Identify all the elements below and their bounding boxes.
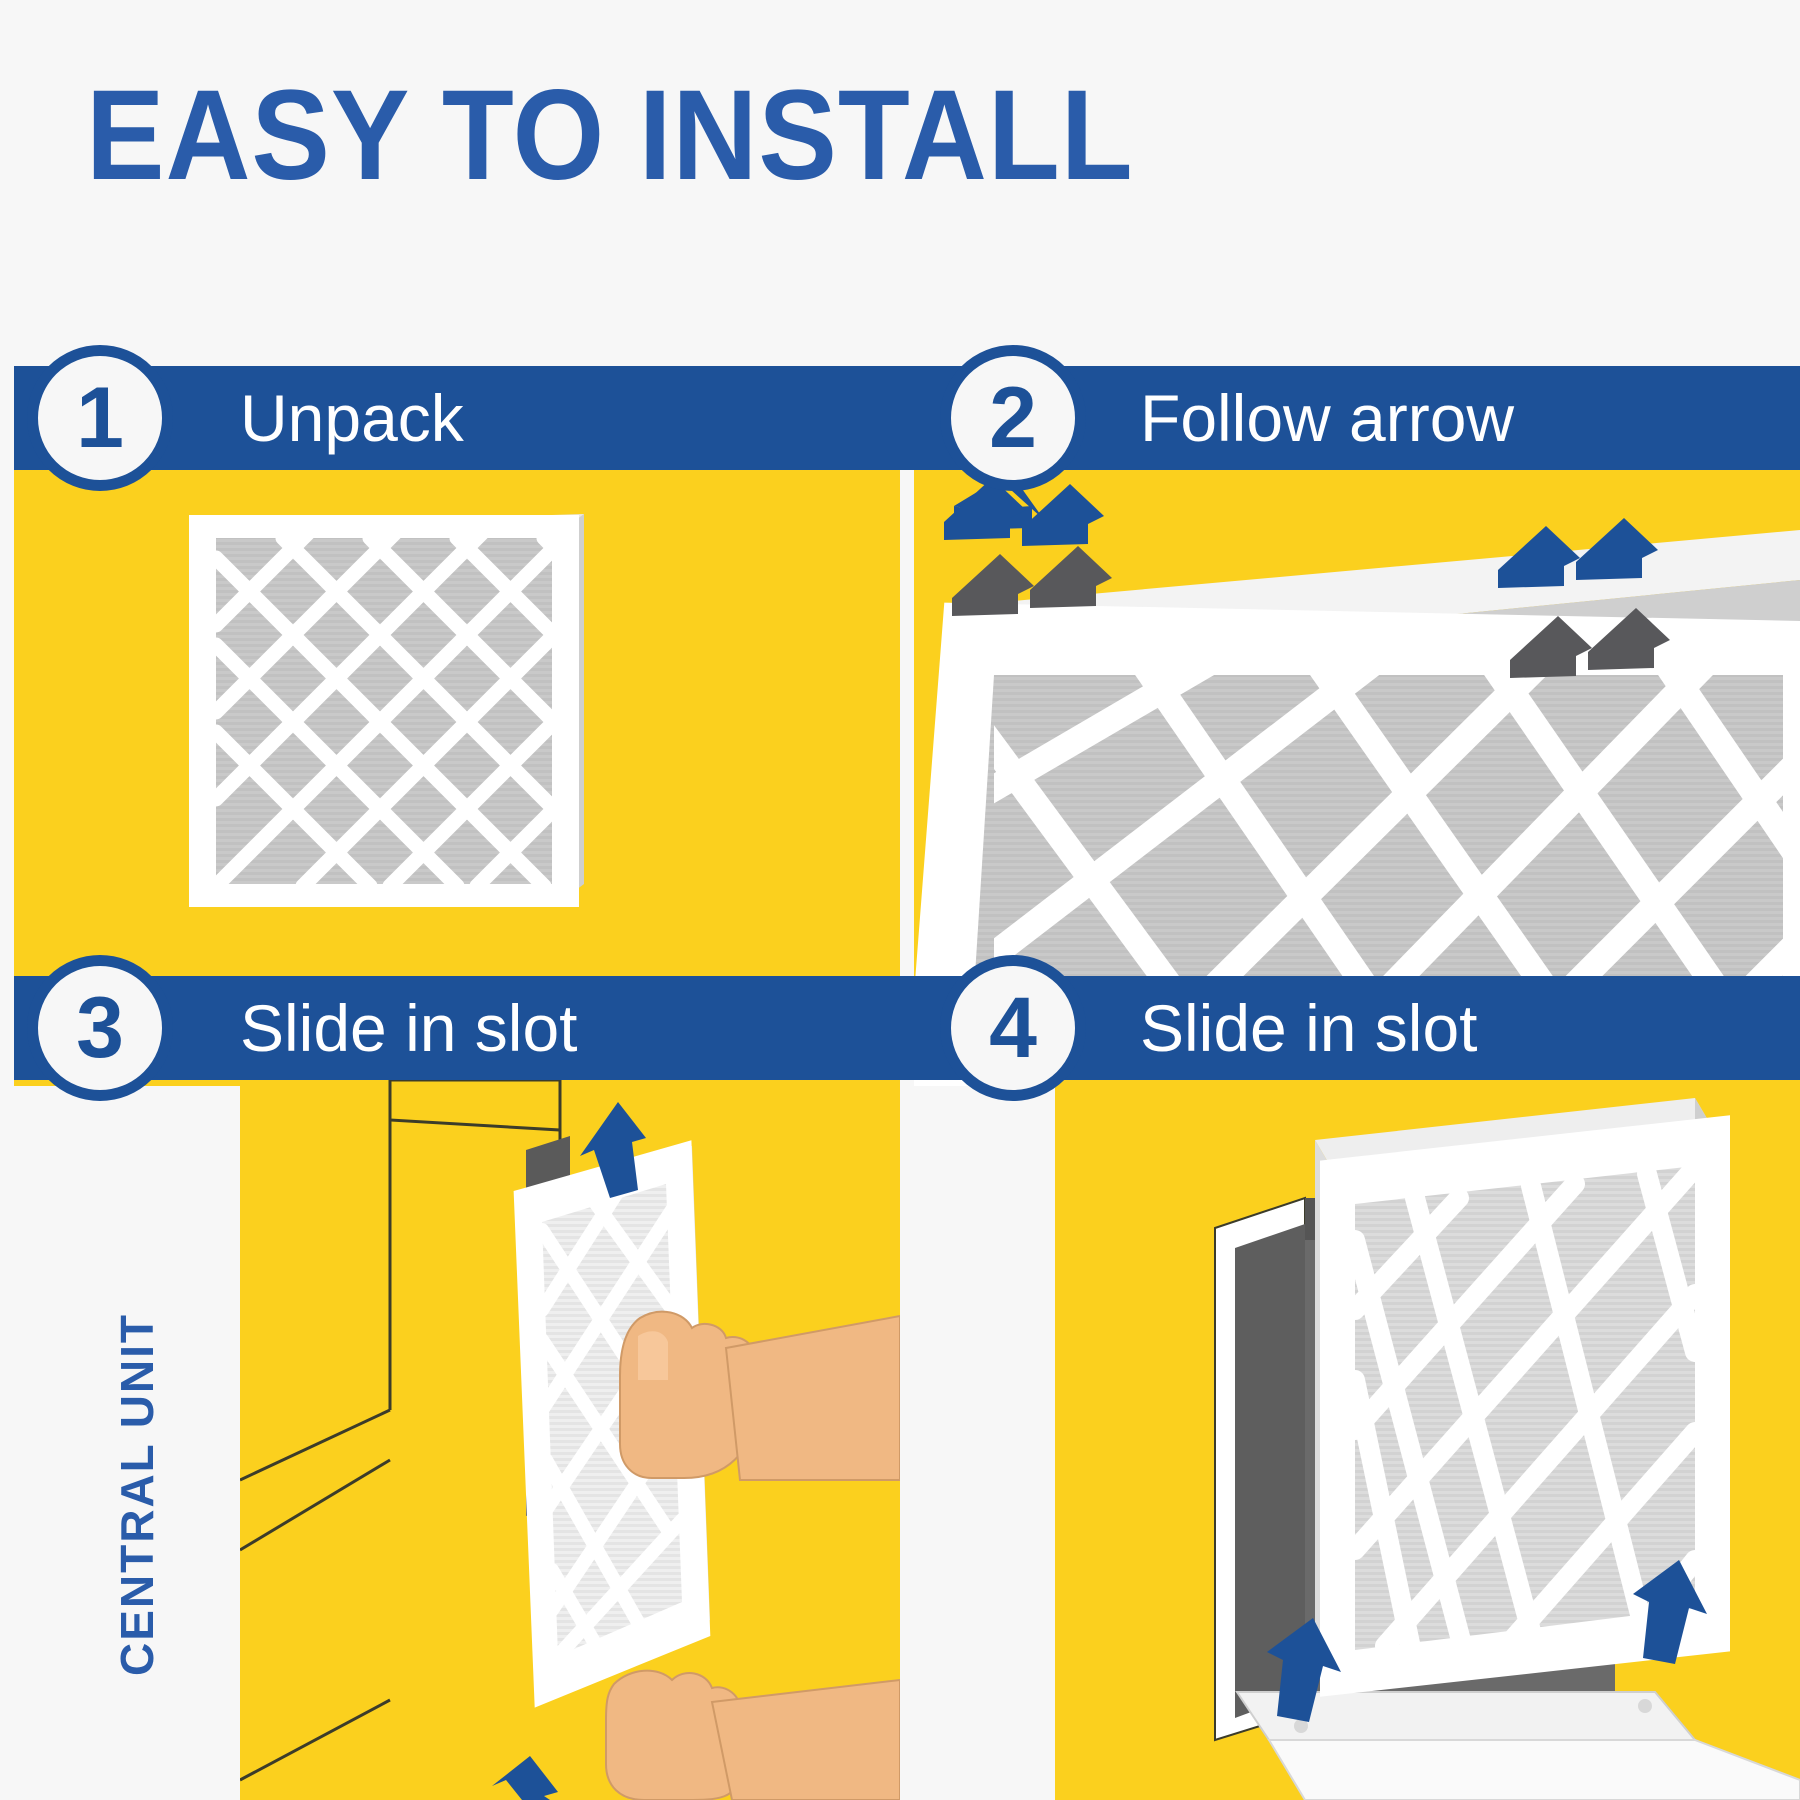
airflow-arrow-grey-icon bbox=[952, 546, 1112, 616]
page-title: EASY TO INSTALL bbox=[86, 72, 1134, 200]
step-4-badge: 4 bbox=[940, 955, 1086, 1101]
steps-grid: Unpack 1 bbox=[0, 366, 1800, 1800]
step-4-label: Slide in slot bbox=[1140, 995, 1478, 1061]
step-4-illustration bbox=[1055, 1080, 1800, 1800]
step-1-badge: 1 bbox=[27, 345, 173, 491]
step-2-label: Follow arrow bbox=[1140, 385, 1514, 451]
central-unit-hands-inserting-filter-icon bbox=[240, 1080, 900, 1800]
step-2-badge: 2 bbox=[940, 345, 1086, 491]
step-panel-3: CENTRAL UNIT Slide in slot 3 bbox=[0, 976, 900, 1800]
step-3-number: 3 bbox=[76, 985, 124, 1071]
step-3-badge: 3 bbox=[27, 955, 173, 1101]
step-2-number: 2 bbox=[989, 375, 1037, 461]
step-4-number: 4 bbox=[989, 985, 1037, 1071]
step-1-number: 1 bbox=[76, 375, 124, 461]
wall-unit-filter-slot-icon bbox=[1055, 1080, 1800, 1800]
step-panel-4: WALL UNIT Slide in slot 4 bbox=[900, 976, 1800, 1800]
step-3-label: Slide in slot bbox=[240, 995, 578, 1061]
step-1-label: Unpack bbox=[240, 385, 464, 451]
step-3-illustration bbox=[240, 1080, 900, 1800]
step-3-side-label: CENTRAL UNIT bbox=[110, 1313, 164, 1676]
